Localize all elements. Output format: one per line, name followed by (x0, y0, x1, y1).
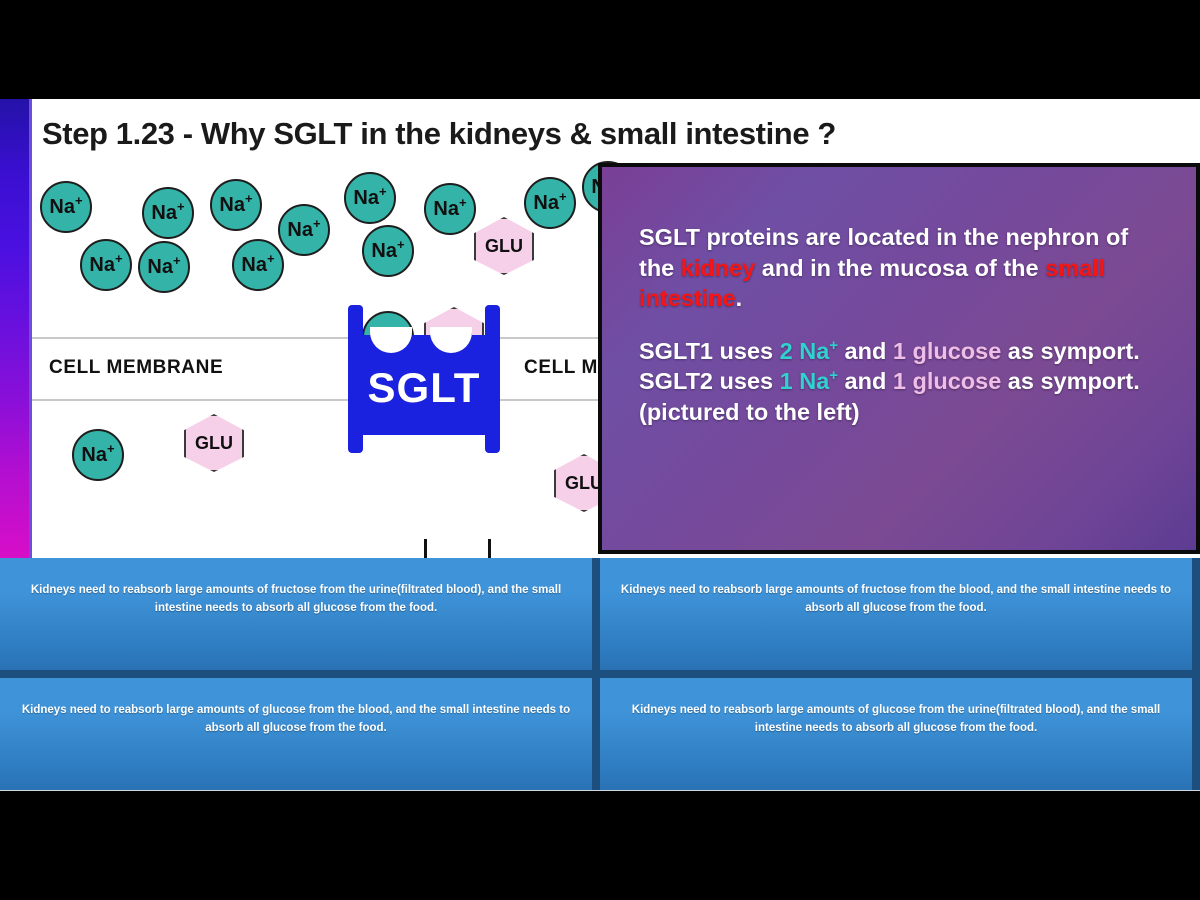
info-line1-b: and in the mucosa of the (755, 255, 1045, 281)
slide-canvas: Step 1.23 - Why SGLT in the kidneys & sm… (32, 99, 1200, 558)
info-sglt1-sodium: 2 Na (780, 338, 830, 364)
sodium-ion-label: Na (287, 220, 313, 240)
answer-option-2[interactable]: Kidneys need to reabsorb large amounts o… (600, 558, 1192, 670)
sodium-ion: Na+ (80, 239, 132, 291)
sodium-ion: Na+ (40, 181, 92, 233)
sodium-ion-label: Na (219, 195, 245, 215)
left-gradient-strip (0, 99, 29, 558)
sodium-ion: Na+ (138, 241, 190, 293)
info-sglt1-glucose: 1 glucose (893, 338, 1001, 364)
video-frame: Step 1.23 - Why SGLT in the kidneys & sm… (0, 99, 1200, 791)
sglt-transporter: SGLT (348, 305, 500, 455)
info-line2-b: and (838, 338, 893, 364)
page-title: Step 1.23 - Why SGLT in the kidneys & sm… (42, 116, 836, 152)
info-line3-a: SGLT2 uses (639, 368, 780, 394)
video-player-stage: Step 1.23 - Why SGLT in the kidneys & sm… (0, 0, 1200, 900)
sodium-ion: Na+ (424, 183, 476, 235)
sodium-ion: Na+ (232, 239, 284, 291)
info-line3-c: as symport. (1001, 368, 1139, 394)
sodium-ion-label: Na (371, 241, 397, 261)
sodium-ion-label: Na (81, 445, 107, 465)
info-paragraph-note: (pictured to the left) (639, 397, 1169, 428)
info-sglt2-sodium: 1 Na (780, 368, 830, 394)
answer-option-1[interactable]: Kidneys need to reabsorb large amounts o… (0, 558, 592, 670)
sodium-ion: Na+ (210, 179, 262, 231)
info-paragraph-sglt1: SGLT1 uses 2 Na+ and 1 glucose as sympor… (639, 336, 1169, 367)
answer-option-4-text: Kidneys need to reabsorb large amounts o… (610, 702, 1182, 738)
answer-option-3-text: Kidneys need to reabsorb large amounts o… (10, 702, 582, 738)
glucose-molecule: GLU (474, 217, 534, 275)
sodium-ion: Na+ (524, 177, 576, 229)
sodium-ion-label: Na (533, 193, 559, 213)
info-paragraph-location: SGLT proteins are located in the nephron… (639, 222, 1169, 314)
answer-option-1-text: Kidneys need to reabsorb large amounts o… (10, 582, 582, 618)
info-kidney-highlight: kidney (681, 255, 755, 281)
info-spacer (639, 314, 1169, 336)
sodium-ion: Na+ (72, 429, 124, 481)
info-line2-c: as symport. (1001, 338, 1139, 364)
sodium-ion-label: Na (151, 203, 177, 223)
answer-option-3[interactable]: Kidneys need to reabsorb large amounts o… (0, 678, 592, 790)
info-paragraph-sglt2: SGLT2 uses 1 Na+ and 1 glucose as sympor… (639, 366, 1169, 397)
info-sglt1-sodium-charge: + (829, 337, 838, 354)
sodium-ion: Na+ (362, 225, 414, 277)
sodium-ion: Na+ (344, 172, 396, 224)
answer-option-4[interactable]: Kidneys need to reabsorb large amounts o… (600, 678, 1192, 790)
glucose-molecule: GLU (184, 414, 244, 472)
sglt-label: SGLT (348, 367, 500, 409)
transport-arrow-sodium (424, 539, 427, 558)
sodium-ion-label: Na (89, 255, 115, 275)
answer-option-2-text: Kidneys need to reabsorb large amounts o… (610, 582, 1182, 618)
cell-membrane-label-left: CELL MEMBRANE (49, 357, 223, 379)
answers-footer-divider (0, 790, 1200, 791)
info-callout-text: SGLT proteins are located in the nephron… (639, 222, 1169, 427)
answer-options-grid: Kidneys need to reabsorb large amounts o… (0, 558, 1200, 791)
info-line2-a: SGLT1 uses (639, 338, 780, 364)
sodium-ion-label: Na (147, 257, 173, 277)
sodium-ion-label: Na (49, 197, 75, 217)
sodium-ion-label: Na (433, 199, 459, 219)
sodium-ion-label: Na (353, 188, 379, 208)
sodium-ion: Na+ (142, 187, 194, 239)
info-sglt2-sodium-charge: + (829, 367, 838, 384)
info-line1-c: . (736, 285, 743, 311)
info-callout-box: SGLT proteins are located in the nephron… (598, 163, 1200, 554)
info-line3-b: and (838, 368, 893, 394)
transport-arrow-glucose (488, 539, 491, 558)
info-sglt2-glucose: 1 glucose (893, 368, 1001, 394)
sodium-ion-label: Na (241, 255, 267, 275)
sodium-ion: Na+ (278, 204, 330, 256)
